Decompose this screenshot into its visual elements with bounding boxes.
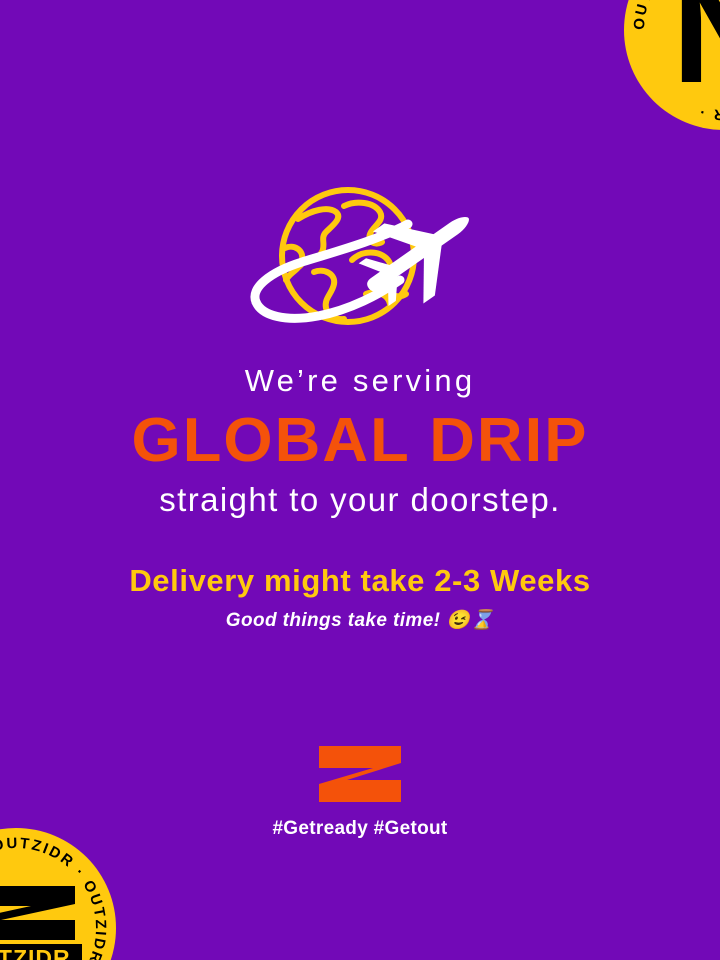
badge-core-bottom-left: OUTZIDR (0, 884, 82, 960)
outzidr-badge-top-right: OUTZIDR · OUTZIDR · OUTZIDR · OUTZIDR · … (624, 0, 720, 130)
footer-brand-block: #Getready #Getout (0, 746, 720, 842)
delivery-subtext: Good things take time! 😉⌛ (0, 608, 720, 634)
globe-with-airplane-illustration (240, 176, 480, 334)
outzidr-badge-bottom-left: OUTZIDR · OUTZIDR · OUTZIDR · OUTZIDR · … (0, 828, 116, 960)
outzidr-z-logo-icon (319, 746, 401, 802)
headline-post-text: straight to your doorstep. (0, 480, 720, 520)
headline-copy-block: We’re serving GLOBAL DRIP straight to yo… (0, 362, 720, 634)
badge-center-letter-top-right: N (672, 0, 720, 105)
poster-canvas: OUTZIDR · OUTZIDR · OUTZIDR · OUTZIDR · … (0, 0, 720, 960)
headline-main-text: GLOBAL DRIP (0, 406, 720, 476)
footer-tagline-text: #Getready #Getout (0, 816, 720, 842)
delivery-estimate-text: Delivery might take 2-3 Weeks (0, 562, 720, 600)
outzidr-z-logo-icon (0, 884, 79, 942)
headline-pre-text: We’re serving (0, 362, 720, 400)
badge-wordmark-bottom-left: OUTZIDR (0, 944, 82, 960)
